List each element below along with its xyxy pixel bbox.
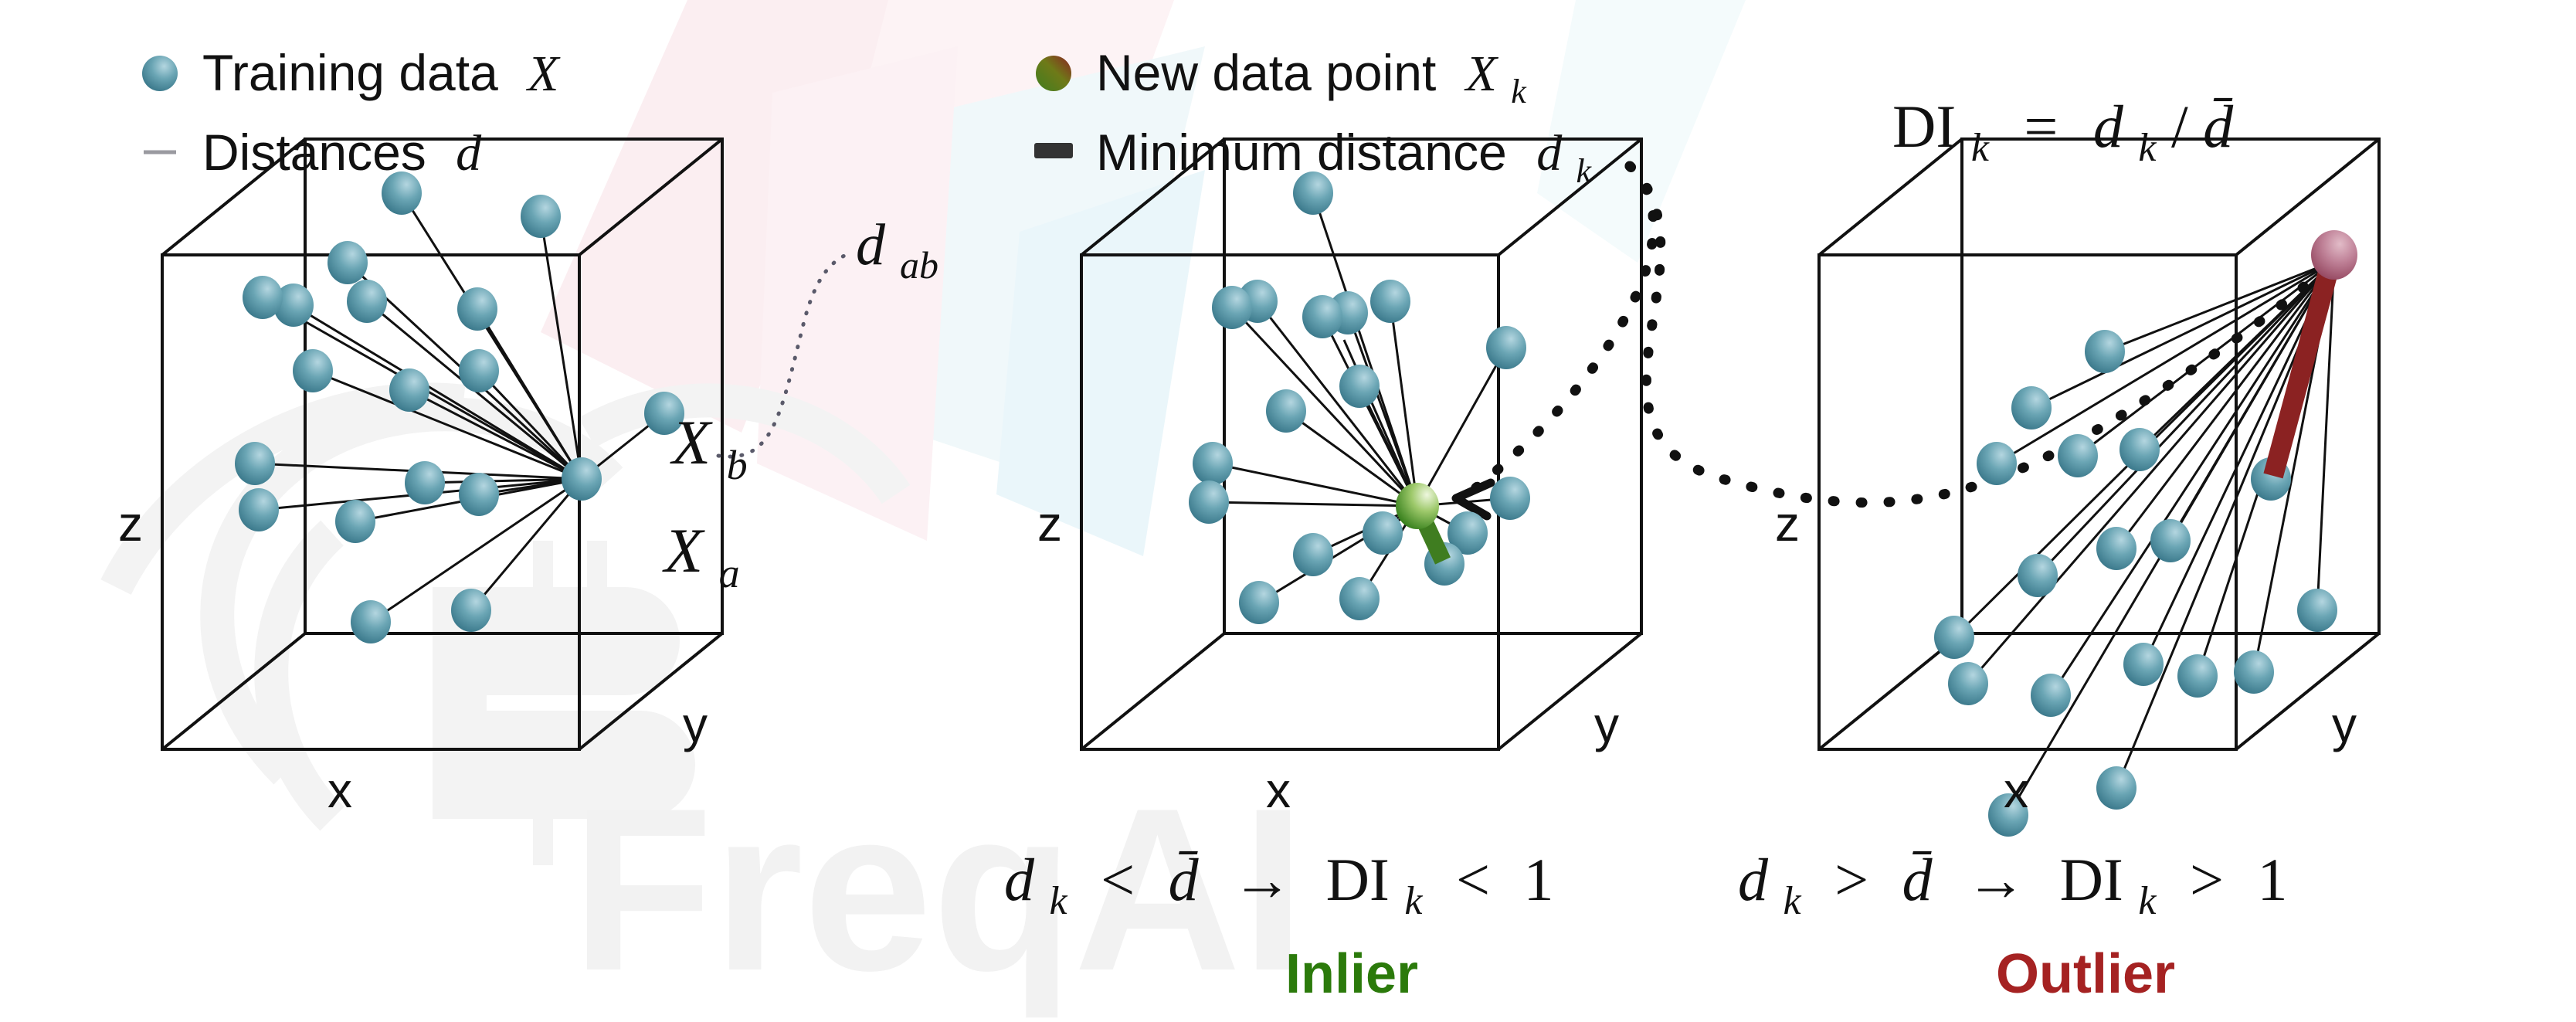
data-point [2123,643,2164,686]
data-point [2096,766,2136,810]
caption-formula-outlier: d k > d̄ → DI k > 1 [1738,845,2288,927]
data-point [2177,654,2218,698]
training-points-outlier [1934,330,2337,837]
data-point [2150,519,2191,562]
data-point [2085,330,2125,373]
data-point [1239,581,1279,624]
data-point [1948,662,1988,705]
axis-label-x-training: x [328,762,352,818]
new-data-point-outlier [2311,230,2357,280]
data-point [335,500,375,543]
figure-canvas: FreqAI [0,0,2576,1022]
axis-label-z-inlier: z [1037,496,1062,552]
thick-dash-marker-icon [1034,143,1073,158]
data-point [1363,511,1403,555]
data-point [2234,650,2274,694]
legend-distances-label: Distances d [202,124,482,182]
training-point-marker-icon [142,56,178,91]
data-point-xa [562,457,602,501]
data-point [243,276,283,319]
panel-outlier: z x y d k > d̄ → DI k > 1 Outlier [1738,139,2379,1005]
data-point [1486,326,1526,369]
data-point [1339,577,1380,620]
distance-lines-outlier [1954,261,2334,815]
data-point [457,287,497,331]
data-point [521,195,561,238]
data-point [2297,589,2337,632]
label-xb: X b [670,407,748,488]
di-diagram: Training data X Distances d New data poi… [0,0,2576,1022]
data-point [2120,428,2160,471]
data-point [235,442,275,485]
data-point [1189,480,1229,524]
data-point [459,473,499,516]
new-data-point-inlier [1396,483,1439,529]
legend-right: New data point X k Minimum distance d k [1034,44,1593,190]
data-point [2058,434,2098,477]
data-point [2018,554,2058,597]
legend-left: Training data X Distances d [142,44,561,182]
data-point [1339,365,1380,408]
data-point [459,349,499,392]
data-point [1302,295,1342,338]
legend: Training data X Distances d New data poi… [142,44,1593,190]
axis-label-y-inlier: y [1594,697,1619,752]
data-point [2031,674,2071,717]
data-point [382,171,422,215]
data-point [389,368,429,412]
data-point [293,349,333,392]
verdict-inlier: Inlier [1285,943,1418,1005]
cube-wireframe-inlier [1081,139,1641,749]
di-formula: DI k = d k / d̄ [1892,93,2234,174]
legend-min-distance-label: Minimum distance d k [1096,124,1593,190]
panel-training: d ab X a X b z x y [118,139,938,818]
legend-new-point-label: New data point X k [1096,44,1527,110]
axis-label-x-outlier: x [2004,762,2028,818]
data-point [1490,477,1530,520]
data-point [1977,442,2017,485]
panel-inlier: z x y d k < d̄ → DI k < 1 Inlier [1004,139,1641,1005]
training-points-training [235,171,684,643]
label-xa: X a [662,515,740,596]
distance-lines-training [255,193,664,622]
data-point [347,280,387,323]
data-point [1212,286,1252,329]
di-formula-text: DI k = d k / d̄ [1892,93,2234,174]
data-point [2011,386,2052,430]
new-point-marker-icon [1036,56,1071,91]
axis-label-x-inlier: x [1266,762,1291,818]
data-point [328,241,368,284]
data-point [1370,280,1410,323]
verdict-outlier: Outlier [1996,943,2175,1005]
dab-leader-line [718,255,846,457]
data-point [239,488,279,531]
axis-label-y-training: y [683,697,708,752]
data-point [351,600,391,643]
data-point [2096,527,2136,570]
data-point [1293,171,1333,215]
data-point [1934,616,1974,659]
axis-label-y-outlier: y [2332,697,2357,752]
axis-label-z-training: z [118,496,143,552]
data-point [405,461,445,504]
cube-wireframe-outlier [1819,139,2379,749]
legend-training-label: Training data X [202,44,561,102]
data-point [451,589,491,632]
axis-label-z-outlier: z [1775,496,1800,552]
label-dab: d ab [856,212,938,287]
data-point [1193,442,1233,485]
caption-formula-inlier: d k < d̄ → DI k < 1 [1004,845,1554,927]
data-point [1266,389,1306,433]
data-point [1293,533,1333,576]
